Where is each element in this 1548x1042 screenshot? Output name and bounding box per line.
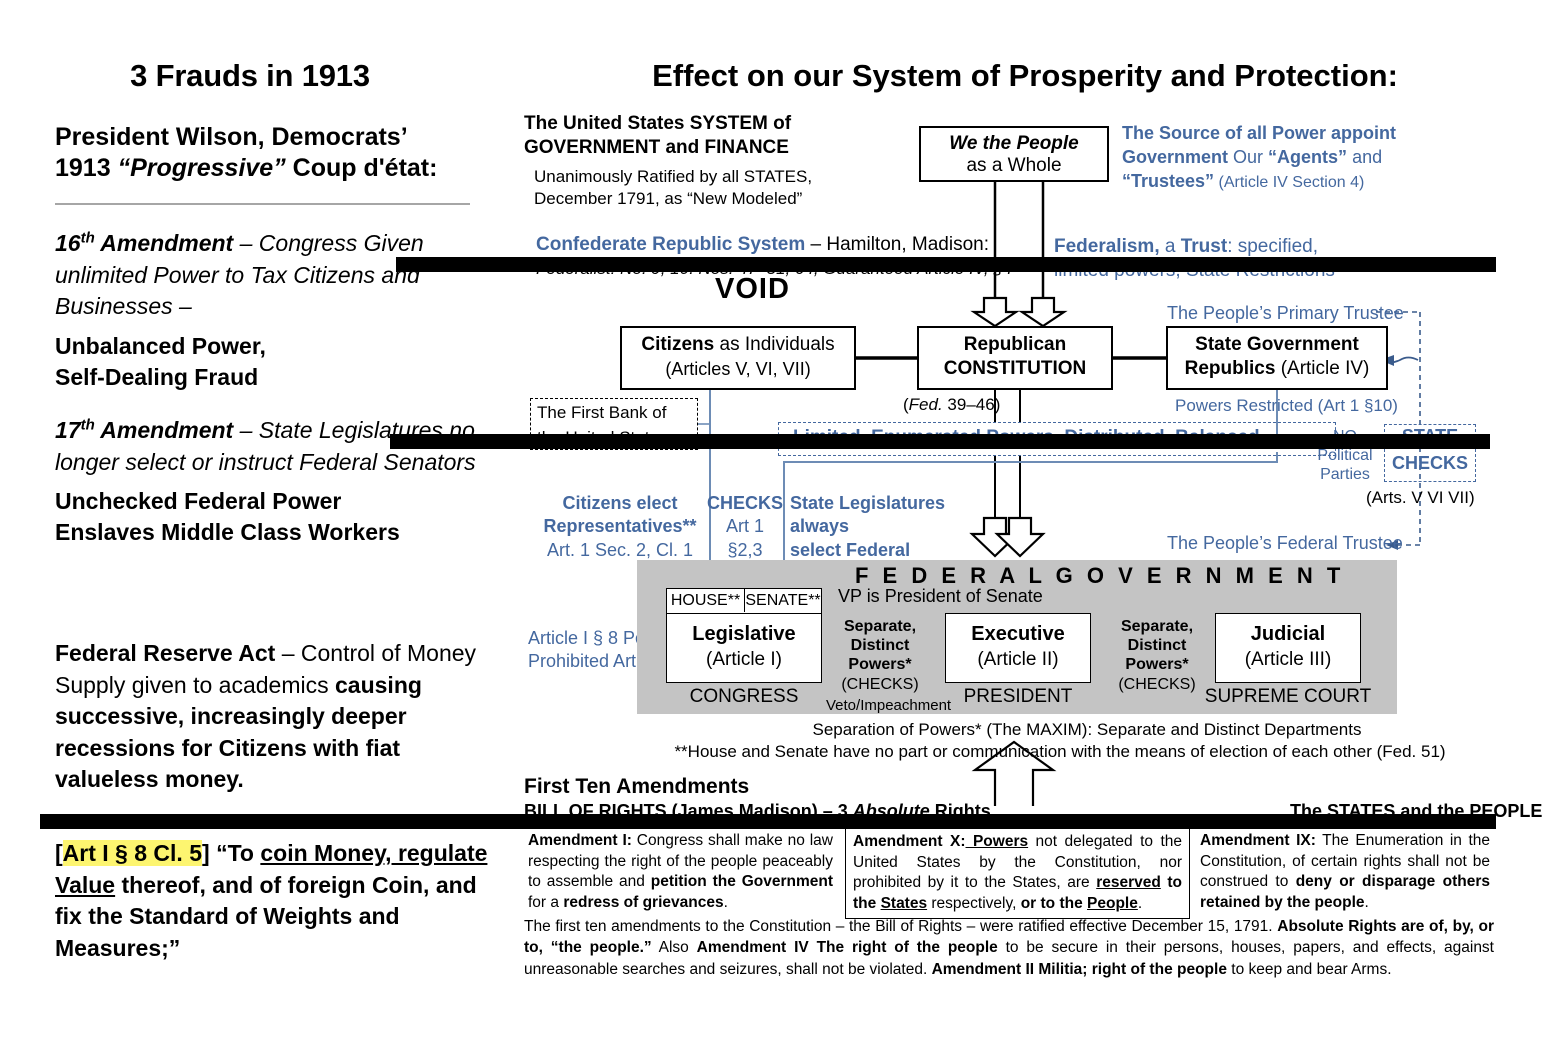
republican-line1: Republican [919, 334, 1111, 356]
redaction-bar-2 [390, 434, 1490, 449]
arts-v-vi-vii-label: (Arts. V VI VII) [1366, 488, 1475, 508]
first-ten-amendments-heading: First Ten Amendments [524, 775, 749, 799]
citizens-box: Citizens as Individuals (Articles V, VI,… [620, 326, 856, 390]
amendment-9-label: Amendment IX: [1200, 832, 1316, 849]
bor-note-t4: to keep and bear Arms. [1227, 961, 1392, 978]
federalism-word: Federalism, [1054, 236, 1160, 257]
fraud-item-federal-reserve: Federal Reserve Act – Control of Money S… [55, 638, 505, 796]
fraud-17th-ordinal: th [81, 416, 95, 433]
amendment-10-reserved: reserved [1096, 874, 1161, 891]
amendment-1-bold2: redress of grievances [563, 894, 723, 911]
executive-name: Executive [946, 623, 1090, 646]
redaction-bar-3 [40, 814, 1496, 829]
citizens-bold: Citizens [641, 334, 714, 355]
judicial-name: Judicial [1216, 623, 1360, 646]
fraud-16th-number: 16 [55, 230, 81, 256]
us-system-subheading: Unanimously Ratified by all STATES, Dece… [534, 166, 874, 210]
legislative-branch-box: Legislative (Article I) [666, 613, 822, 683]
supreme-court-label: SUPREME COURT [1195, 686, 1381, 708]
citizens-articles: (Articles V, VI, VII) [622, 359, 854, 380]
we-the-people-line2: as a Whole [921, 155, 1107, 177]
powers-restricted-label: Powers Restricted (Art 1 §10) [1175, 396, 1398, 416]
amendment-9-text: Amendment IX: The Enumeration in the Con… [1200, 831, 1490, 913]
amendment-10-bold1: or to the [1021, 895, 1087, 912]
we-the-people-box: We the People as a Whole [919, 126, 1109, 182]
fraud-17th-heading: Amendment [95, 417, 233, 443]
left-column-subtitle: President Wilson, Democrats’ 1913 “Progr… [55, 122, 485, 185]
we-the-people-line1: We the People [921, 133, 1107, 155]
separate-powers-checks-left: (CHECKS) [841, 676, 918, 693]
state-gov-republics: Republics [1185, 358, 1276, 379]
citizens-elect-label: Citizens elect Representatives** Art. 1 … [530, 492, 710, 562]
fraud-17th-conclusion: Unchecked Federal Power Enslaves Middle … [55, 486, 495, 549]
amendment-10-states: States [881, 895, 928, 912]
right-panel-title: Effect on our System of Prosperity and P… [510, 58, 1540, 94]
amendment-10-d: . [1138, 895, 1142, 912]
amendment-10-powers: Powers [966, 833, 1029, 850]
amendment-1-label: Amendment I: [528, 832, 632, 849]
amendment-10-box: Amendment X: Powers not delegated to the… [845, 827, 1190, 919]
frauds-list: 16th Amendment – Congress Given unlimite… [55, 228, 495, 553]
confederate-republic-bold: Confederate Republic System [536, 234, 805, 255]
us-system-sub1: Unanimously Ratified by all STATES, [534, 167, 812, 186]
subtitle-line2-suffix: Coup d'état: [286, 154, 438, 182]
state-gov-article: (Article IV) [1275, 358, 1369, 379]
amendment-9-b: . [1365, 894, 1369, 911]
bor-note-b3: Amendment II Militia; right of the peopl… [932, 961, 1227, 978]
federal-reserve-heading: Federal Reserve Act [55, 640, 275, 666]
state-checks-box: STATE CHECKS [1384, 424, 1476, 482]
left-divider [55, 203, 470, 205]
separate-powers-text-left: Separate, Distinct Powers* [844, 618, 916, 673]
state-checks-line2: CHECKS [1385, 453, 1475, 474]
fed39-fed: Fed. [909, 395, 943, 414]
president-label: PRESIDENT [945, 686, 1091, 708]
coin-money-clause: [Art I § 8 Cl. 5] “To coin Money, regula… [55, 838, 505, 965]
judicial-branch-box: Judicial (Article III) [1215, 613, 1361, 683]
fraud-16th-conclusion: Unbalanced Power, Self-Dealing Fraud [55, 331, 495, 394]
confederate-republic-rest: – Hamilton, Madison: [805, 234, 989, 255]
amendment-1-bold1: petition the Government [651, 873, 833, 890]
separate-powers-checks-right: (CHECKS) [1118, 676, 1195, 693]
legislative-name: Legislative [667, 623, 821, 646]
federalism-specified: : specified, [1227, 236, 1318, 257]
checks-art: Art 1 §2,3 [726, 516, 764, 559]
source-power-and: and [1347, 147, 1382, 167]
house-senate-footnote: **House and Senate have no part or commu… [560, 742, 1548, 762]
subtitle-line1: President Wilson, Democrats’ [55, 123, 408, 151]
executive-branch-box: Executive (Article II) [945, 613, 1091, 683]
state-government-box: State Government Republics (Article IV) [1166, 326, 1388, 390]
subtitle-line2-prefix: 1913 [55, 154, 118, 182]
void-stamp: VOID [715, 273, 790, 306]
fraud-16th-text: 16th Amendment – Congress Given unlimite… [55, 228, 495, 323]
citizens-line1: Citizens as Individuals [622, 334, 854, 356]
source-power-trustees: “Trustees” [1122, 171, 1214, 191]
primary-trustee-label: The People’s Primary Trustee [1167, 303, 1404, 324]
left-column: 3 Frauds in 1913 President Wilson, Democ… [0, 0, 500, 1042]
source-power-government: Government [1122, 147, 1228, 167]
vp-president-of-senate-note: VP is President of Senate [838, 586, 1043, 607]
state-leg-line1: State Legislatures always [790, 493, 945, 536]
fed39-nums: 39–46) [943, 395, 1001, 414]
coin-bracket-close: ] [202, 840, 216, 866]
bor-note-b2: Amendment IV The right of the people [697, 939, 998, 956]
state-gov-line2: Republics (Article IV) [1168, 358, 1386, 380]
redaction-bar-1 [396, 257, 1496, 272]
bor-note-t1: The first ten amendments to the Constitu… [524, 918, 1277, 935]
source-of-power-label: The Source of all Power appoint Governme… [1122, 122, 1432, 193]
federal-trustee-label: The People’s Federal Trustee [1167, 533, 1403, 554]
coin-citation: Art I § 8 Cl. 5 [63, 840, 202, 866]
citizens-elect-line2: Representatives** [543, 516, 696, 536]
bor-note-t2: Also [652, 939, 697, 956]
amendment-1-text: Amendment I: Congress shall make no law … [528, 831, 833, 913]
checks-label: CHECKS [707, 493, 783, 513]
coin-rest: thereof, and of foreign Coin, and fix th… [55, 872, 477, 961]
source-power-article: (Article IV Section 4) [1214, 174, 1364, 191]
amendment-1-b: for a [528, 894, 563, 911]
citizens-elect-line3: Art. 1 Sec. 2, Cl. 1 [547, 540, 693, 560]
republican-line2: CONSTITUTION [919, 358, 1111, 380]
legislative-article: (Article I) [667, 649, 821, 671]
fraud-16th-heading: Amendment [95, 230, 233, 256]
separation-of-powers-maxim: Separation of Powers* (The MAXIM): Separ… [637, 720, 1537, 740]
house-cell: HOUSE** [667, 589, 744, 612]
confederate-republic-label: Confederate Republic System – Hamilton, … [536, 233, 1016, 258]
us-system-line2: GOVERNMENT and FINANCE [524, 137, 789, 158]
subtitle-progressive: “Progressive” [118, 154, 286, 182]
bill-of-rights-note: The first ten amendments to the Constitu… [524, 916, 1494, 980]
separate-powers-label-right: Separate, Distinct Powers* (CHECKS) [1105, 617, 1209, 694]
republican-constitution-box: Republican CONSTITUTION [917, 326, 1113, 390]
us-system-heading: The United States SYSTEM of GOVERNMENT a… [524, 112, 854, 161]
separate-powers-text-right: Separate, Distinct Powers* [1121, 618, 1193, 673]
state-gov-line1: State Government [1168, 334, 1386, 356]
federalism-a: a [1160, 236, 1181, 257]
source-power-our: Our [1228, 147, 1268, 167]
amendment-10-c: respectively, [927, 895, 1021, 912]
house-senate-bar: HOUSE** SENATE** [666, 588, 822, 614]
citizens-rest: as Individuals [714, 334, 834, 355]
left-column-title: 3 Frauds in 1913 [0, 58, 500, 94]
source-power-line1: The Source of all Power appoint [1122, 123, 1396, 143]
coin-bracket-open: [ [55, 840, 63, 866]
judicial-article: (Article III) [1216, 649, 1360, 671]
veto-impeachment-label: Veto/Impeachment [826, 697, 938, 714]
separate-powers-label-left: Separate, Distinct Powers* (CHECKS) [825, 617, 935, 694]
amendment-10-people: People [1087, 895, 1138, 912]
federalism-label-line1: Federalism, a Trust: specified, [1054, 234, 1454, 260]
amendment-10-label: Amendment X: [853, 833, 966, 850]
executive-article: (Article II) [946, 649, 1090, 671]
fraud-17th-number: 17 [55, 417, 81, 443]
coin-quote-open: “To [216, 840, 260, 866]
us-system-line1: The United States SYSTEM of [524, 113, 791, 134]
source-power-agents: “Agents” [1268, 147, 1347, 167]
citizens-elect-line1: Citizens elect [562, 493, 677, 513]
first-bank-line1: The First Bank of [531, 399, 697, 424]
fraud-item-16th: 16th Amendment – Congress Given unlimite… [55, 228, 495, 393]
us-system-sub2: December 1791, as “New Modeled” [534, 189, 802, 208]
senate-cell: SENATE** [744, 589, 821, 612]
fraud-16th-ordinal: th [81, 229, 95, 246]
congress-label: CONGRESS [666, 686, 822, 708]
federalist-39-46-label: (Fed. 39–46) [903, 395, 1000, 415]
trust-word: Trust [1181, 236, 1227, 257]
amendment-1-c: . [724, 894, 728, 911]
